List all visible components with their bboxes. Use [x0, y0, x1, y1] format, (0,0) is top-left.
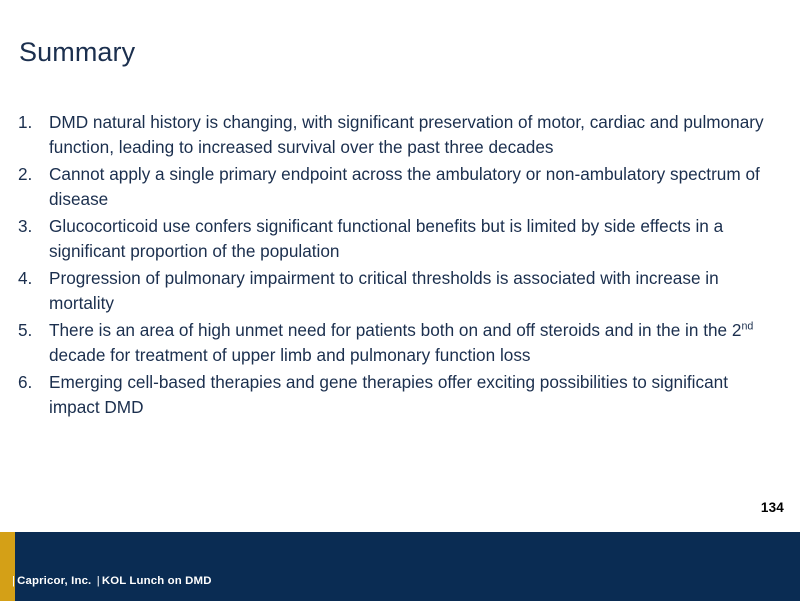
list-item: 2. Cannot apply a single primary endpoin… [0, 162, 790, 214]
list-item-text: DMD natural history is changing, with si… [49, 110, 790, 160]
page-number: 134 [761, 500, 784, 515]
list-item-text: There is an area of high unmet need for … [49, 318, 790, 368]
footer-company: Capricor, Inc. [17, 575, 91, 587]
list-item-number: 2. [18, 162, 49, 187]
footer-separator: | [95, 575, 102, 587]
list-item: 4. Progression of pulmonary impairment t… [0, 266, 790, 318]
list-item: 6. Emerging cell-based therapies and gen… [0, 370, 790, 422]
list-item-text: Cannot apply a single primary endpoint a… [49, 162, 790, 212]
list-item-number: 3. [18, 214, 49, 239]
list-item: 3. Glucocorticoid use confers significan… [0, 214, 790, 266]
footer-caption: |Capricor, Inc. |KOL Lunch on DMD [10, 575, 212, 587]
page-title: Summary [19, 38, 135, 68]
list-item-text: Progression of pulmonary impairment to c… [49, 266, 790, 316]
footer-band: |Capricor, Inc. |KOL Lunch on DMD UCDAVI… [0, 532, 800, 601]
footer-accent-bar [0, 532, 15, 601]
list-item-text: Glucocorticoid use confers significant f… [49, 214, 790, 264]
footer-event: KOL Lunch on DMD [102, 575, 212, 587]
list-item-number: 1. [18, 110, 49, 135]
list-item-text: Emerging cell-based therapies and gene t… [49, 370, 790, 420]
list-item-number: 6. [18, 370, 49, 395]
ordinal-suffix: nd [741, 320, 753, 332]
list-item-text-segment: There is an area of high unmet need for … [49, 320, 741, 340]
summary-bullet-list: 1. DMD natural history is changing, with… [0, 110, 790, 422]
list-item: 5. There is an area of high unmet need f… [0, 318, 790, 370]
list-item-number: 4. [18, 266, 49, 291]
list-item-number: 5. [18, 318, 49, 343]
slide-canvas: Summary 1. DMD natural history is changi… [0, 0, 800, 601]
list-item-text-segment: decade for treatment of upper limb and p… [49, 345, 531, 365]
list-item: 1. DMD natural history is changing, with… [0, 110, 790, 162]
